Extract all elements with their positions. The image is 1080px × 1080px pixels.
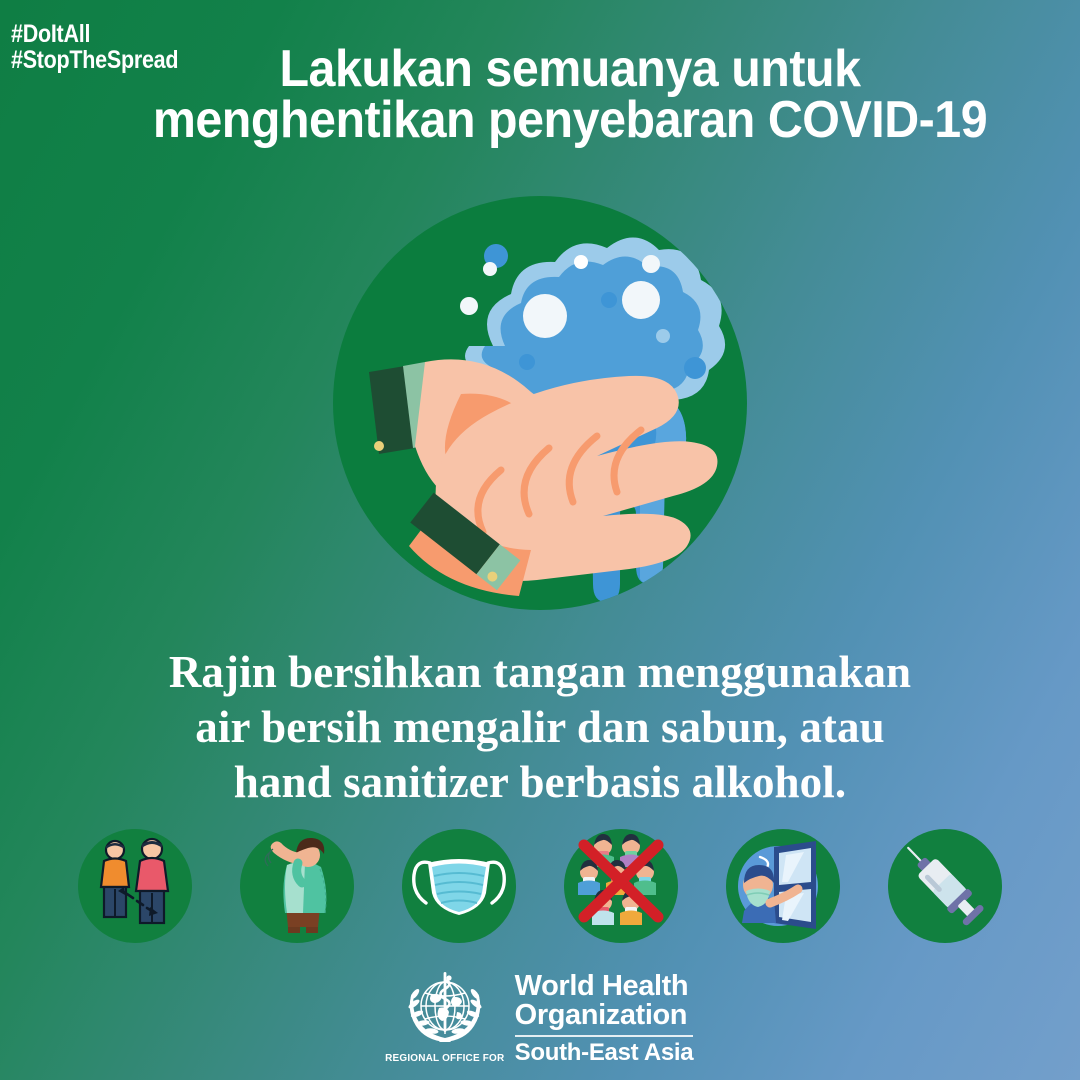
who-wordmark: World Health Organization South-East Asi… [515,968,694,1065]
headline-line-2: menghentikan penyebaran COVID-19 [152,95,989,146]
region-label: South-East Asia [515,1041,694,1065]
who-logo-lockup: REGIONAL OFFICE FOR World Health Organiz… [0,968,1080,1065]
vaccination-syringe-icon[interactable] [888,829,1002,943]
wordmark-divider [515,1035,694,1037]
wordmark-line-2: Organization [515,1001,694,1030]
who-emblem [395,968,495,1050]
poster-canvas: #DoItAll #StopTheSpread Lakukan semuanya… [0,0,1080,1080]
open-window-ventilation-icon[interactable] [726,829,840,943]
handwashing-illustration [333,196,747,610]
body-line-2: air bersih mengalir dan sabun, atau [90,700,990,755]
avoid-crowds-icon[interactable] [564,829,678,943]
cough-into-elbow-icon[interactable] [240,829,354,943]
page-title: Lakukan semuanya untuk menghentikan peny… [120,44,1020,147]
regional-office-label: REGIONAL OFFICE FOR [385,1052,504,1064]
headline-line-1: Lakukan semuanya untuk [152,44,989,95]
physical-distancing-icon[interactable] [78,829,192,943]
measures-icon-row [0,828,1080,944]
wordmark-line-1: World Health [515,972,694,1001]
face-mask-icon[interactable] [402,829,516,943]
body-line-3: hand sanitizer berbasis alkohol. [90,755,990,810]
body-line-1: Rajin bersihkan tangan menggunakan [90,645,990,700]
body-text: Rajin bersihkan tangan menggunakan air b… [90,645,990,810]
